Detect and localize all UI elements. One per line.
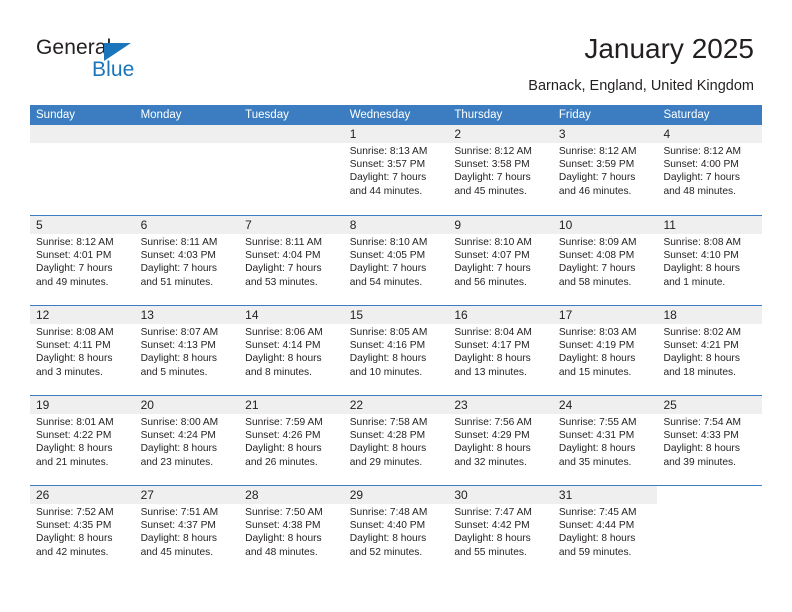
sunrise-text: Sunrise: 8:12 AM xyxy=(36,236,132,249)
sunrise-text: Sunrise: 7:56 AM xyxy=(454,416,550,429)
sunrise-text: Sunrise: 8:02 AM xyxy=(663,326,759,339)
sunrise-text: Sunrise: 8:12 AM xyxy=(559,145,655,158)
daylight-text-line1: Daylight: 8 hours xyxy=(559,532,655,545)
day-sun-info: Sunrise: 7:54 AMSunset: 4:33 PMDaylight:… xyxy=(663,416,759,469)
day-sun-info: Sunrise: 8:07 AMSunset: 4:13 PMDaylight:… xyxy=(141,326,237,379)
calendar-cell-empty xyxy=(657,486,762,575)
weekday-header-sunday: Sunday xyxy=(30,105,135,125)
sunrise-text: Sunrise: 8:05 AM xyxy=(350,326,446,339)
daylight-text-line2: and 3 minutes. xyxy=(36,366,132,379)
day-number: 26 xyxy=(36,486,132,504)
calendar-day-cell[interactable]: 12Sunrise: 8:08 AMSunset: 4:11 PMDayligh… xyxy=(30,306,135,395)
sunrise-text: Sunrise: 8:04 AM xyxy=(454,326,550,339)
page-subtitle-location: Barnack, England, United Kingdom xyxy=(528,78,754,95)
calendar-day-cell[interactable]: 6Sunrise: 8:11 AMSunset: 4:03 PMDaylight… xyxy=(135,216,240,305)
weekday-header-monday: Monday xyxy=(135,105,240,125)
day-sun-info: Sunrise: 8:12 AMSunset: 3:58 PMDaylight:… xyxy=(454,145,550,198)
sunset-text: Sunset: 4:17 PM xyxy=(454,339,550,352)
sunrise-text: Sunrise: 7:55 AM xyxy=(559,416,655,429)
day-sun-info: Sunrise: 8:11 AMSunset: 4:03 PMDaylight:… xyxy=(141,236,237,289)
calendar-day-cell[interactable]: 1Sunrise: 8:13 AMSunset: 3:57 PMDaylight… xyxy=(344,125,449,215)
daylight-text-line1: Daylight: 8 hours xyxy=(141,532,237,545)
daylight-text-line2: and 13 minutes. xyxy=(454,366,550,379)
calendar-day-cell[interactable]: 10Sunrise: 8:09 AMSunset: 4:08 PMDayligh… xyxy=(553,216,658,305)
day-sun-info: Sunrise: 8:11 AMSunset: 4:04 PMDaylight:… xyxy=(245,236,341,289)
sunset-text: Sunset: 4:35 PM xyxy=(36,519,132,532)
day-number: 10 xyxy=(559,216,655,234)
sunset-text: Sunset: 4:28 PM xyxy=(350,429,446,442)
sunrise-text: Sunrise: 8:09 AM xyxy=(559,236,655,249)
sunset-text: Sunset: 4:13 PM xyxy=(141,339,237,352)
sunset-text: Sunset: 4:08 PM xyxy=(559,249,655,262)
sunset-text: Sunset: 4:37 PM xyxy=(141,519,237,532)
sunset-text: Sunset: 4:14 PM xyxy=(245,339,341,352)
sunrise-text: Sunrise: 8:10 AM xyxy=(454,236,550,249)
calendar-day-cell[interactable]: 11Sunrise: 8:08 AMSunset: 4:10 PMDayligh… xyxy=(657,216,762,305)
calendar-day-cell[interactable]: 13Sunrise: 8:07 AMSunset: 4:13 PMDayligh… xyxy=(135,306,240,395)
day-number: 17 xyxy=(559,306,655,324)
daylight-text-line1: Daylight: 8 hours xyxy=(350,532,446,545)
week-cells: 1Sunrise: 8:13 AMSunset: 3:57 PMDaylight… xyxy=(30,125,762,215)
day-sun-info: Sunrise: 7:59 AMSunset: 4:26 PMDaylight:… xyxy=(245,416,341,469)
calendar-week-row: 12Sunrise: 8:08 AMSunset: 4:11 PMDayligh… xyxy=(30,305,762,395)
calendar-day-cell[interactable]: 19Sunrise: 8:01 AMSunset: 4:22 PMDayligh… xyxy=(30,396,135,485)
calendar-day-cell[interactable]: 4Sunrise: 8:12 AMSunset: 4:00 PMDaylight… xyxy=(657,125,762,215)
daylight-text-line1: Daylight: 8 hours xyxy=(663,262,759,275)
calendar-cell-empty xyxy=(135,125,240,215)
daylight-text-line2: and 39 minutes. xyxy=(663,456,759,469)
day-sun-info: Sunrise: 7:55 AMSunset: 4:31 PMDaylight:… xyxy=(559,416,655,469)
day-sun-info: Sunrise: 8:00 AMSunset: 4:24 PMDaylight:… xyxy=(141,416,237,469)
daylight-text-line1: Daylight: 8 hours xyxy=(350,352,446,365)
sunset-text: Sunset: 4:05 PM xyxy=(350,249,446,262)
week-cells: 5Sunrise: 8:12 AMSunset: 4:01 PMDaylight… xyxy=(30,216,762,305)
day-number: 7 xyxy=(245,216,341,234)
daylight-text-line1: Daylight: 8 hours xyxy=(663,352,759,365)
day-sun-info: Sunrise: 8:12 AMSunset: 4:01 PMDaylight:… xyxy=(36,236,132,289)
sunrise-text: Sunrise: 7:51 AM xyxy=(141,506,237,519)
daylight-text-line1: Daylight: 7 hours xyxy=(454,171,550,184)
daylight-text-line1: Daylight: 8 hours xyxy=(141,442,237,455)
sunset-text: Sunset: 4:22 PM xyxy=(36,429,132,442)
daylight-text-line1: Daylight: 7 hours xyxy=(663,171,759,184)
sunset-text: Sunset: 4:42 PM xyxy=(454,519,550,532)
sunset-text: Sunset: 4:31 PM xyxy=(559,429,655,442)
day-sun-info: Sunrise: 8:04 AMSunset: 4:17 PMDaylight:… xyxy=(454,326,550,379)
sunset-text: Sunset: 4:29 PM xyxy=(454,429,550,442)
daylight-text-line2: and 45 minutes. xyxy=(141,546,237,559)
daylight-text-line2: and 15 minutes. xyxy=(559,366,655,379)
sunset-text: Sunset: 4:40 PM xyxy=(350,519,446,532)
page-header: General Blue January 2025 Barnack, Engla… xyxy=(0,0,792,102)
daylight-text-line1: Daylight: 7 hours xyxy=(559,262,655,275)
day-number: 23 xyxy=(454,396,550,414)
daylight-text-line1: Daylight: 8 hours xyxy=(454,532,550,545)
sunset-text: Sunset: 4:07 PM xyxy=(454,249,550,262)
calendar-week-row: 5Sunrise: 8:12 AMSunset: 4:01 PMDaylight… xyxy=(30,215,762,305)
day-number: 16 xyxy=(454,306,550,324)
day-number: 9 xyxy=(454,216,550,234)
sunset-text: Sunset: 3:58 PM xyxy=(454,158,550,171)
logo-text-general: General xyxy=(36,36,111,60)
sunset-text: Sunset: 3:57 PM xyxy=(350,158,446,171)
daylight-text-line2: and 18 minutes. xyxy=(663,366,759,379)
calendar-day-cell[interactable]: 22Sunrise: 7:58 AMSunset: 4:28 PMDayligh… xyxy=(344,396,449,485)
calendar-day-cell[interactable]: 17Sunrise: 8:03 AMSunset: 4:19 PMDayligh… xyxy=(553,306,658,395)
day-sun-info: Sunrise: 7:56 AMSunset: 4:29 PMDaylight:… xyxy=(454,416,550,469)
sunrise-text: Sunrise: 8:12 AM xyxy=(663,145,759,158)
calendar-day-cell[interactable]: 28Sunrise: 7:50 AMSunset: 4:38 PMDayligh… xyxy=(239,486,344,575)
calendar-day-cell[interactable]: 9Sunrise: 8:10 AMSunset: 4:07 PMDaylight… xyxy=(448,216,553,305)
calendar-day-cell[interactable]: 3Sunrise: 8:12 AMSunset: 3:59 PMDaylight… xyxy=(553,125,658,215)
sunrise-text: Sunrise: 7:45 AM xyxy=(559,506,655,519)
day-sun-info: Sunrise: 8:03 AMSunset: 4:19 PMDaylight:… xyxy=(559,326,655,379)
daylight-text-line2: and 42 minutes. xyxy=(36,546,132,559)
daylight-text-line2: and 5 minutes. xyxy=(141,366,237,379)
daylight-text-line1: Daylight: 8 hours xyxy=(36,532,132,545)
sunrise-text: Sunrise: 7:52 AM xyxy=(36,506,132,519)
generalblue-logo: General Blue xyxy=(36,36,256,88)
calendar-weeks: 1Sunrise: 8:13 AMSunset: 3:57 PMDaylight… xyxy=(30,125,762,575)
sunrise-text: Sunrise: 8:11 AM xyxy=(141,236,237,249)
sunrise-text: Sunrise: 8:08 AM xyxy=(663,236,759,249)
daylight-text-line2: and 55 minutes. xyxy=(454,546,550,559)
daylight-text-line1: Daylight: 8 hours xyxy=(141,352,237,365)
calendar-day-cell[interactable]: 15Sunrise: 8:05 AMSunset: 4:16 PMDayligh… xyxy=(344,306,449,395)
daylight-text-line1: Daylight: 7 hours xyxy=(454,262,550,275)
sunset-text: Sunset: 4:04 PM xyxy=(245,249,341,262)
daylight-text-line2: and 45 minutes. xyxy=(454,185,550,198)
day-number: 5 xyxy=(36,216,132,234)
sunrise-text: Sunrise: 7:48 AM xyxy=(350,506,446,519)
day-sun-info: Sunrise: 8:08 AMSunset: 4:11 PMDaylight:… xyxy=(36,326,132,379)
day-number: 20 xyxy=(141,396,237,414)
day-sun-info: Sunrise: 7:45 AMSunset: 4:44 PMDaylight:… xyxy=(559,506,655,559)
week-cells: 19Sunrise: 8:01 AMSunset: 4:22 PMDayligh… xyxy=(30,396,762,485)
calendar-day-cell[interactable]: 16Sunrise: 8:04 AMSunset: 4:17 PMDayligh… xyxy=(448,306,553,395)
daylight-text-line2: and 52 minutes. xyxy=(350,546,446,559)
daylight-text-line1: Daylight: 8 hours xyxy=(663,442,759,455)
day-number: 18 xyxy=(663,306,759,324)
calendar-day-cell[interactable]: 30Sunrise: 7:47 AMSunset: 4:42 PMDayligh… xyxy=(448,486,553,575)
calendar-page: General Blue January 2025 Barnack, Engla… xyxy=(0,0,792,612)
sunrise-text: Sunrise: 7:47 AM xyxy=(454,506,550,519)
daylight-text-line1: Daylight: 8 hours xyxy=(559,352,655,365)
sunrise-text: Sunrise: 7:50 AM xyxy=(245,506,341,519)
calendar-day-cell[interactable]: 23Sunrise: 7:56 AMSunset: 4:29 PMDayligh… xyxy=(448,396,553,485)
sunrise-text: Sunrise: 8:07 AM xyxy=(141,326,237,339)
weekday-header-row: SundayMondayTuesdayWednesdayThursdayFrid… xyxy=(30,105,762,125)
day-number: 24 xyxy=(559,396,655,414)
daylight-text-line1: Daylight: 7 hours xyxy=(36,262,132,275)
daylight-text-line2: and 49 minutes. xyxy=(36,276,132,289)
day-number: 30 xyxy=(454,486,550,504)
day-sun-info: Sunrise: 8:12 AMSunset: 4:00 PMDaylight:… xyxy=(663,145,759,198)
calendar-day-cell[interactable]: 2Sunrise: 8:12 AMSunset: 3:58 PMDaylight… xyxy=(448,125,553,215)
sunrise-text: Sunrise: 8:06 AM xyxy=(245,326,341,339)
day-sun-info: Sunrise: 8:02 AMSunset: 4:21 PMDaylight:… xyxy=(663,326,759,379)
day-number: 19 xyxy=(36,396,132,414)
sunset-text: Sunset: 4:19 PM xyxy=(559,339,655,352)
day-number: 31 xyxy=(559,486,655,504)
sunset-text: Sunset: 4:10 PM xyxy=(663,249,759,262)
daylight-text-line2: and 46 minutes. xyxy=(559,185,655,198)
weekday-header-wednesday: Wednesday xyxy=(344,105,449,125)
calendar-day-cell[interactable]: 20Sunrise: 8:00 AMSunset: 4:24 PMDayligh… xyxy=(135,396,240,485)
day-number: 6 xyxy=(141,216,237,234)
day-number: 8 xyxy=(350,216,446,234)
daylight-text-line2: and 21 minutes. xyxy=(36,456,132,469)
day-sun-info: Sunrise: 7:58 AMSunset: 4:28 PMDaylight:… xyxy=(350,416,446,469)
day-sun-info: Sunrise: 8:01 AMSunset: 4:22 PMDaylight:… xyxy=(36,416,132,469)
calendar-day-cell[interactable]: 31Sunrise: 7:45 AMSunset: 4:44 PMDayligh… xyxy=(553,486,658,575)
daylight-text-line1: Daylight: 8 hours xyxy=(36,442,132,455)
day-sun-info: Sunrise: 8:09 AMSunset: 4:08 PMDaylight:… xyxy=(559,236,655,289)
day-sun-info: Sunrise: 8:06 AMSunset: 4:14 PMDaylight:… xyxy=(245,326,341,379)
calendar-day-cell[interactable]: 21Sunrise: 7:59 AMSunset: 4:26 PMDayligh… xyxy=(239,396,344,485)
daylight-text-line1: Daylight: 8 hours xyxy=(245,532,341,545)
day-number: 27 xyxy=(141,486,237,504)
daylight-text-line2: and 48 minutes. xyxy=(245,546,341,559)
daylight-text-line1: Daylight: 7 hours xyxy=(141,262,237,275)
day-number: 29 xyxy=(350,486,446,504)
sunrise-text: Sunrise: 8:13 AM xyxy=(350,145,446,158)
day-number: 4 xyxy=(663,125,759,143)
daylight-text-line2: and 23 minutes. xyxy=(141,456,237,469)
sunrise-text: Sunrise: 7:59 AM xyxy=(245,416,341,429)
day-number: 15 xyxy=(350,306,446,324)
sunset-text: Sunset: 4:00 PM xyxy=(663,158,759,171)
sunset-text: Sunset: 4:38 PM xyxy=(245,519,341,532)
daylight-text-line2: and 10 minutes. xyxy=(350,366,446,379)
day-number: 22 xyxy=(350,396,446,414)
daylight-text-line1: Daylight: 7 hours xyxy=(350,171,446,184)
daylight-text-line1: Daylight: 7 hours xyxy=(245,262,341,275)
weekday-header-thursday: Thursday xyxy=(448,105,553,125)
sunset-text: Sunset: 4:01 PM xyxy=(36,249,132,262)
day-sun-info: Sunrise: 8:12 AMSunset: 3:59 PMDaylight:… xyxy=(559,145,655,198)
sunrise-text: Sunrise: 8:11 AM xyxy=(245,236,341,249)
calendar-day-cell[interactable]: 5Sunrise: 8:12 AMSunset: 4:01 PMDaylight… xyxy=(30,216,135,305)
day-sun-info: Sunrise: 7:50 AMSunset: 4:38 PMDaylight:… xyxy=(245,506,341,559)
day-sun-info: Sunrise: 7:47 AMSunset: 4:42 PMDaylight:… xyxy=(454,506,550,559)
calendar-cell-empty xyxy=(30,125,135,215)
sunset-text: Sunset: 4:24 PM xyxy=(141,429,237,442)
day-sun-info: Sunrise: 8:10 AMSunset: 4:05 PMDaylight:… xyxy=(350,236,446,289)
daylight-text-line1: Daylight: 8 hours xyxy=(350,442,446,455)
day-number: 21 xyxy=(245,396,341,414)
daylight-text-line2: and 51 minutes. xyxy=(141,276,237,289)
daylight-text-line2: and 1 minute. xyxy=(663,276,759,289)
sunset-text: Sunset: 4:26 PM xyxy=(245,429,341,442)
daylight-text-line1: Daylight: 7 hours xyxy=(559,171,655,184)
day-number: 13 xyxy=(141,306,237,324)
calendar-day-cell[interactable]: 7Sunrise: 8:11 AMSunset: 4:04 PMDaylight… xyxy=(239,216,344,305)
daylight-text-line1: Daylight: 8 hours xyxy=(36,352,132,365)
week-cells: 26Sunrise: 7:52 AMSunset: 4:35 PMDayligh… xyxy=(30,486,762,575)
calendar-day-cell[interactable]: 25Sunrise: 7:54 AMSunset: 4:33 PMDayligh… xyxy=(657,396,762,485)
sunrise-text: Sunrise: 8:12 AM xyxy=(454,145,550,158)
daylight-text-line2: and 54 minutes. xyxy=(350,276,446,289)
page-title: January 2025 xyxy=(584,32,754,66)
calendar-day-cell[interactable]: 8Sunrise: 8:10 AMSunset: 4:05 PMDaylight… xyxy=(344,216,449,305)
calendar-week-row: 1Sunrise: 8:13 AMSunset: 3:57 PMDaylight… xyxy=(30,125,762,215)
daylight-text-line2: and 32 minutes. xyxy=(454,456,550,469)
sunset-text: Sunset: 4:11 PM xyxy=(36,339,132,352)
sunrise-text: Sunrise: 7:58 AM xyxy=(350,416,446,429)
calendar-week-row: 26Sunrise: 7:52 AMSunset: 4:35 PMDayligh… xyxy=(30,485,762,575)
day-number: 2 xyxy=(454,125,550,143)
day-number: 11 xyxy=(663,216,759,234)
day-number: 28 xyxy=(245,486,341,504)
day-sun-info: Sunrise: 7:51 AMSunset: 4:37 PMDaylight:… xyxy=(141,506,237,559)
daylight-text-line1: Daylight: 8 hours xyxy=(559,442,655,455)
day-sun-info: Sunrise: 7:52 AMSunset: 4:35 PMDaylight:… xyxy=(36,506,132,559)
calendar-day-cell[interactable]: 24Sunrise: 7:55 AMSunset: 4:31 PMDayligh… xyxy=(553,396,658,485)
sunset-text: Sunset: 4:44 PM xyxy=(559,519,655,532)
daylight-text-line2: and 35 minutes. xyxy=(559,456,655,469)
weekday-header-friday: Friday xyxy=(553,105,658,125)
daylight-text-line1: Daylight: 8 hours xyxy=(245,352,341,365)
daylight-text-line1: Daylight: 8 hours xyxy=(454,442,550,455)
day-number: 3 xyxy=(559,125,655,143)
weekday-header-saturday: Saturday xyxy=(657,105,762,125)
week-cells: 12Sunrise: 8:08 AMSunset: 4:11 PMDayligh… xyxy=(30,306,762,395)
day-sun-info: Sunrise: 8:05 AMSunset: 4:16 PMDaylight:… xyxy=(350,326,446,379)
daylight-text-line2: and 48 minutes. xyxy=(663,185,759,198)
calendar-week-row: 19Sunrise: 8:01 AMSunset: 4:22 PMDayligh… xyxy=(30,395,762,485)
daylight-text-line2: and 56 minutes. xyxy=(454,276,550,289)
daylight-text-line2: and 53 minutes. xyxy=(245,276,341,289)
day-sun-info: Sunrise: 8:10 AMSunset: 4:07 PMDaylight:… xyxy=(454,236,550,289)
weekday-header-tuesday: Tuesday xyxy=(239,105,344,125)
sunset-text: Sunset: 3:59 PM xyxy=(559,158,655,171)
calendar-day-cell[interactable]: 29Sunrise: 7:48 AMSunset: 4:40 PMDayligh… xyxy=(344,486,449,575)
calendar-day-cell[interactable]: 26Sunrise: 7:52 AMSunset: 4:35 PMDayligh… xyxy=(30,486,135,575)
day-number: 14 xyxy=(245,306,341,324)
sunrise-text: Sunrise: 7:54 AM xyxy=(663,416,759,429)
daylight-text-line2: and 59 minutes. xyxy=(559,546,655,559)
sunrise-text: Sunrise: 8:01 AM xyxy=(36,416,132,429)
day-number: 1 xyxy=(350,125,446,143)
daylight-text-line1: Daylight: 7 hours xyxy=(350,262,446,275)
daylight-text-line2: and 58 minutes. xyxy=(559,276,655,289)
daylight-text-line2: and 44 minutes. xyxy=(350,185,446,198)
daylight-text-line1: Daylight: 8 hours xyxy=(245,442,341,455)
day-number: 25 xyxy=(663,396,759,414)
sunset-text: Sunset: 4:16 PM xyxy=(350,339,446,352)
sunrise-text: Sunrise: 8:08 AM xyxy=(36,326,132,339)
day-number: 12 xyxy=(36,306,132,324)
logo-text-blue: Blue xyxy=(92,58,134,82)
sunset-text: Sunset: 4:03 PM xyxy=(141,249,237,262)
sunset-text: Sunset: 4:33 PM xyxy=(663,429,759,442)
sunrise-text: Sunrise: 8:10 AM xyxy=(350,236,446,249)
daylight-text-line2: and 26 minutes. xyxy=(245,456,341,469)
daylight-text-line2: and 29 minutes. xyxy=(350,456,446,469)
day-sun-info: Sunrise: 8:08 AMSunset: 4:10 PMDaylight:… xyxy=(663,236,759,289)
day-sun-info: Sunrise: 8:13 AMSunset: 3:57 PMDaylight:… xyxy=(350,145,446,198)
sunrise-text: Sunrise: 8:03 AM xyxy=(559,326,655,339)
calendar-day-cell[interactable]: 14Sunrise: 8:06 AMSunset: 4:14 PMDayligh… xyxy=(239,306,344,395)
calendar-day-cell[interactable]: 27Sunrise: 7:51 AMSunset: 4:37 PMDayligh… xyxy=(135,486,240,575)
daylight-text-line2: and 8 minutes. xyxy=(245,366,341,379)
sunset-text: Sunset: 4:21 PM xyxy=(663,339,759,352)
sunrise-text: Sunrise: 8:00 AM xyxy=(141,416,237,429)
calendar-day-cell[interactable]: 18Sunrise: 8:02 AMSunset: 4:21 PMDayligh… xyxy=(657,306,762,395)
day-sun-info: Sunrise: 7:48 AMSunset: 4:40 PMDaylight:… xyxy=(350,506,446,559)
calendar-cell-empty xyxy=(239,125,344,215)
calendar-table: SundayMondayTuesdayWednesdayThursdayFrid… xyxy=(30,105,762,575)
daylight-text-line1: Daylight: 8 hours xyxy=(454,352,550,365)
